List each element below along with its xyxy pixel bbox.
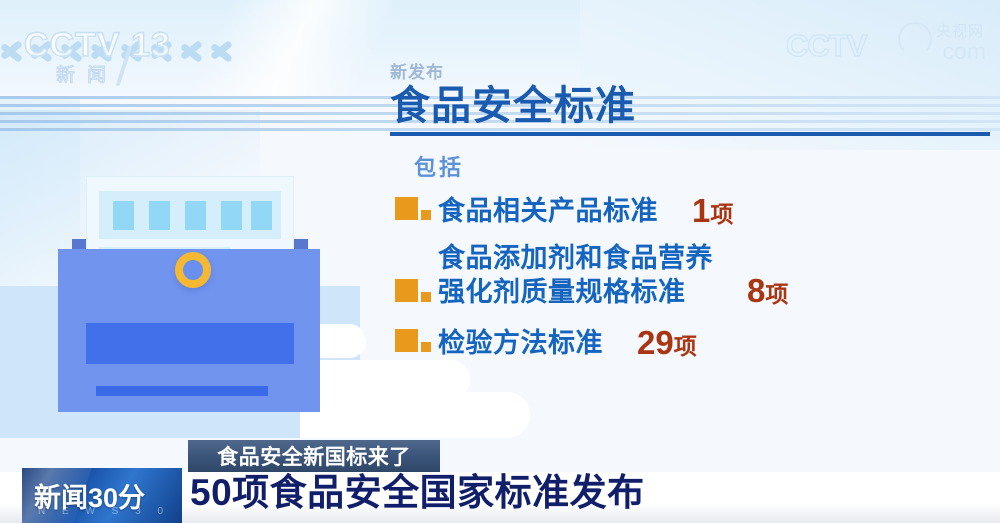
list-item-label-line1: 食品添加剂和食品营养 [438, 241, 713, 276]
broadcast-graphic: CCTV 13 新闻 CCTV 央视网 com 新发布 食品安全标准 包括 [0, 0, 1000, 523]
list-item-label: 食品添加剂和食品营养 强化剂质量规格标准 [434, 241, 739, 312]
list-item-label: 检验方法标准 [434, 324, 629, 363]
list-item-count-value: 29 [637, 324, 674, 361]
list-item-count-unit: 项 [710, 201, 733, 227]
watermark-ring-icon [898, 22, 932, 56]
headline-block: 新发布 食品安全标准 [390, 58, 990, 136]
lower-third-banner: 食品安全新国标来了 [188, 440, 440, 472]
envelope-band-small [96, 386, 268, 396]
list-item-count: 29项 [637, 324, 697, 362]
list-item-count-value: 1 [692, 192, 710, 229]
list-item-label-line2: 强化剂质量规格标准 [438, 275, 713, 310]
cloud-shape [300, 392, 530, 438]
headline-kicker: 新发布 [390, 58, 990, 83]
list-item-count: 8项 [747, 272, 788, 310]
program-logo-latin: N E W S 3 0 [38, 506, 170, 517]
bullet-square-icon [392, 278, 434, 308]
list-item-count-value: 8 [747, 272, 765, 309]
envelope-clasp-icon [175, 252, 211, 288]
lower-third-title: 50项食品安全国家标准发布 [190, 474, 645, 513]
list-item-label-line1: 食品相关产品标准 [438, 194, 658, 229]
standards-list: 食品相关产品标准 1项 食品添加剂和食品营养 强化剂质量规格标准 8项 [392, 192, 992, 372]
list-item: 食品添加剂和食品营养 强化剂质量规格标准 8项 [392, 241, 992, 312]
list-item-count-unit: 项 [765, 281, 788, 307]
cctv13-logo-subtitle: 新闻 [56, 60, 118, 87]
bullet-square-icon [392, 196, 434, 226]
program-logo: 新闻30分 N E W S 3 0 [22, 468, 182, 523]
envelope-band [86, 323, 294, 364]
list-item: 检验方法标准 29项 [392, 324, 992, 363]
headline-underline [390, 132, 990, 136]
cctv13-logo: CCTV 13 新闻 [24, 26, 234, 86]
list-item-label-line1: 检验方法标准 [438, 326, 603, 361]
includes-label: 包括 [414, 150, 464, 182]
bullet-square-icon [392, 328, 434, 358]
list-item: 食品相关产品标准 1项 [392, 192, 992, 231]
list-item-label: 食品相关产品标准 [434, 192, 684, 231]
document-header-block [99, 191, 281, 239]
list-item-count: 1项 [692, 192, 733, 230]
lower-third-banner-text: 食品安全新国标来了 [217, 441, 411, 471]
list-item-count-unit: 项 [674, 333, 697, 359]
cctv-com-watermark: CCTV 央视网 com [786, 18, 986, 62]
headline-title: 食品安全标准 [390, 85, 990, 128]
envelope-document-illustration [58, 176, 320, 412]
